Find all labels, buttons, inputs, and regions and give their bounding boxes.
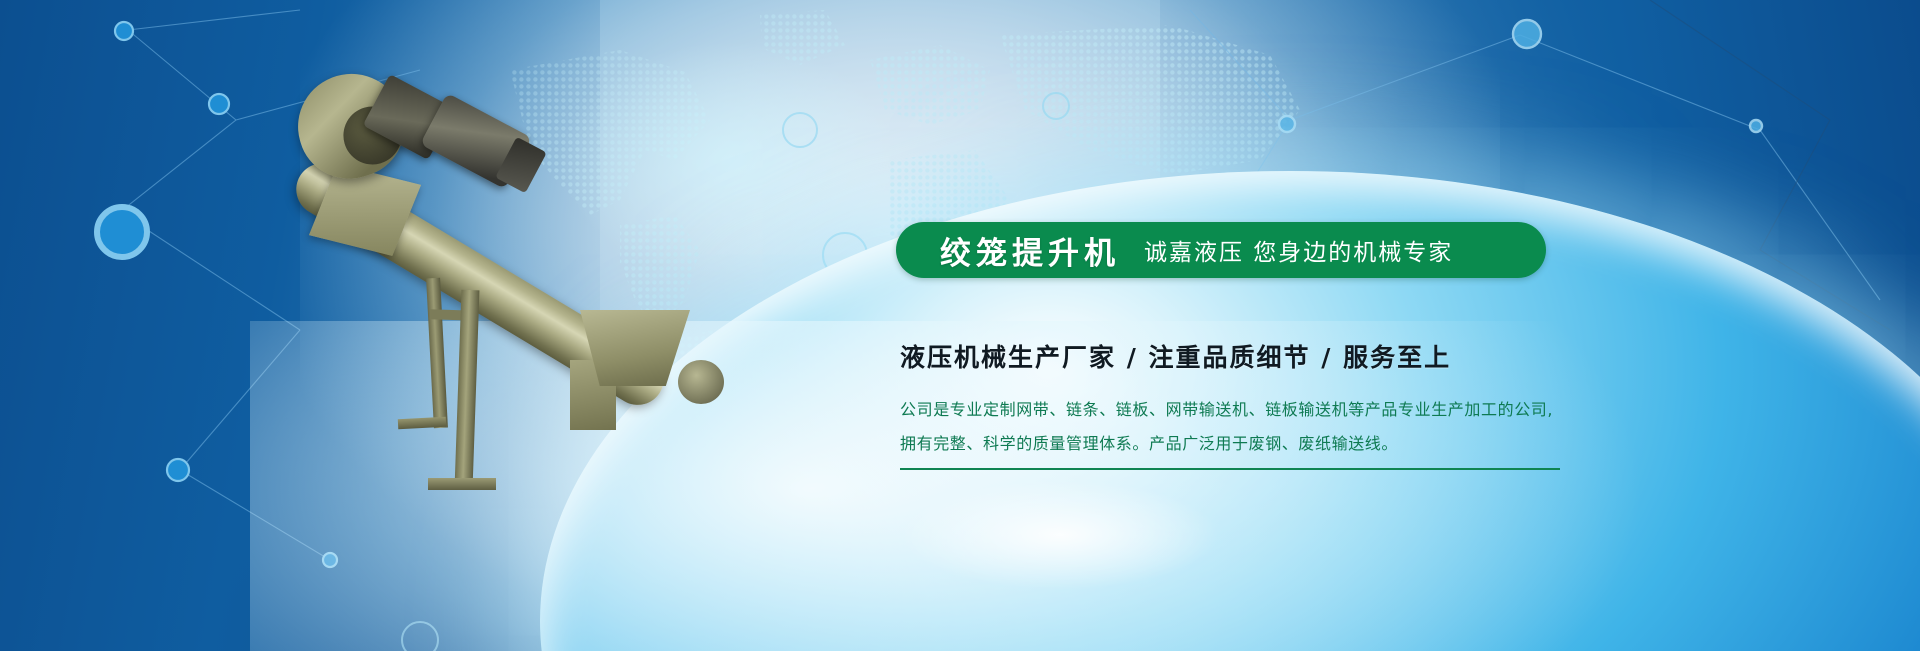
company-slogan: 液压机械生产厂家 / 注重品质细节 / 服务至上 — [900, 338, 1451, 374]
company-description: 公司是专业定制网带、链条、链板、网带输送机、链板输送机等产品专业生产加工的公司,… — [900, 393, 1580, 461]
product-title: 绞笼提升机 — [940, 228, 1120, 273]
background-flare-center — [900, 480, 1220, 590]
conveyor-end-cap — [678, 360, 724, 404]
promo-banner: 绞笼提升机 诚嘉液压 您身边的机械专家 液压机械生产厂家 / 注重品质细节 / … — [0, 0, 1920, 651]
product-tagline: 诚嘉液压 您身边的机械专家 — [1144, 233, 1453, 267]
support-foot-base — [428, 478, 496, 490]
product-name-badge: 绞笼提升机 诚嘉液压 您身边的机械专家 — [896, 222, 1546, 278]
screw-conveyor-product-image — [280, 60, 740, 480]
description-line-1: 公司是专业定制网带、链条、链板、网带输送机、链板输送机等产品专业生产加工的公司, — [900, 393, 1580, 427]
description-line-2: 拥有完整、科学的质量管理体系。产品广泛用于废钢、废纸输送线。 — [900, 427, 1580, 461]
support-leg-diagonal — [426, 278, 448, 429]
text-divider-line — [900, 468, 1560, 470]
